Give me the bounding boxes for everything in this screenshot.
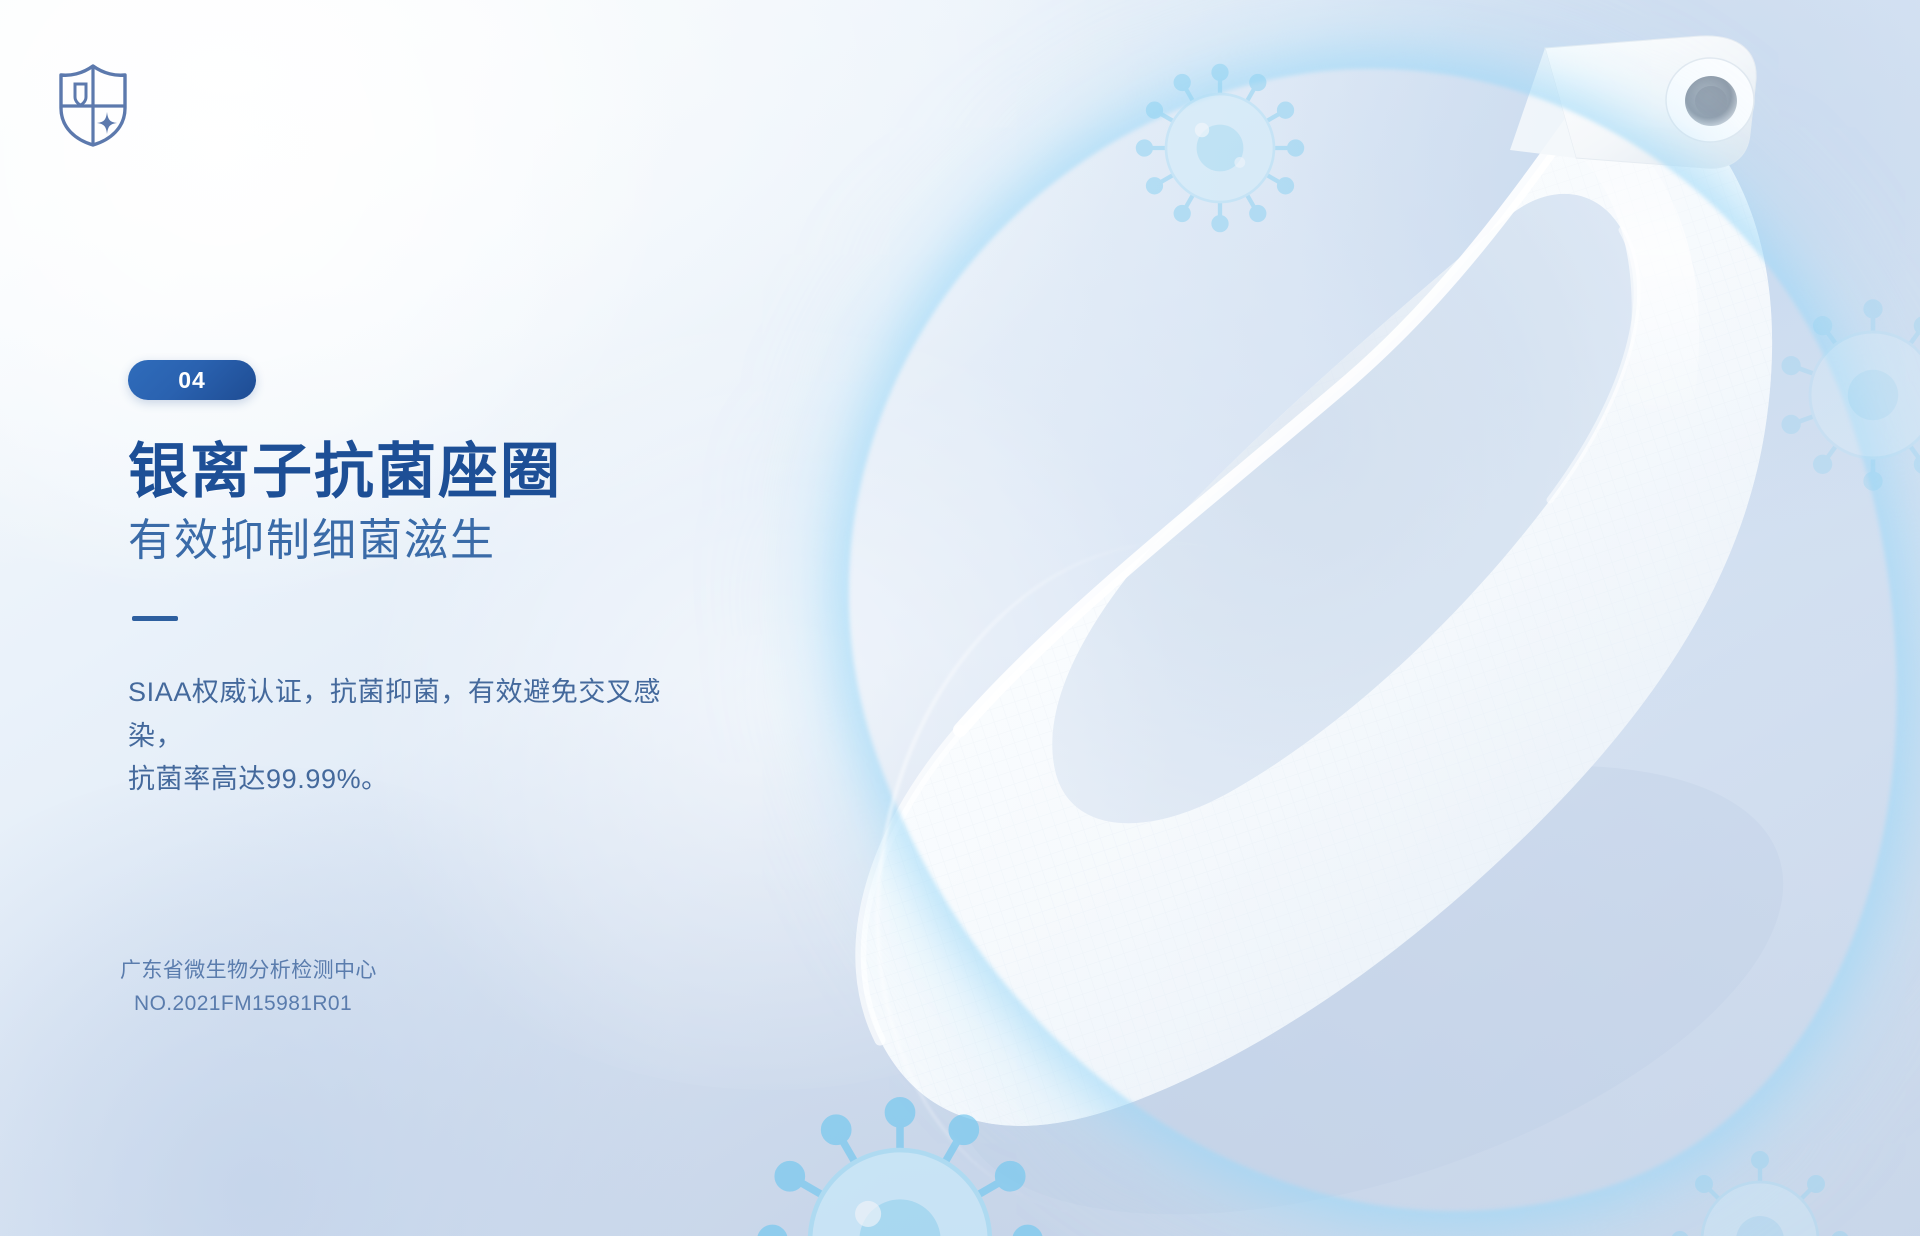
description-line-1: SIAA权威认证，抗菌抑菌，有效避免交叉感染， [128,677,661,751]
certification-report-number: NO.2021FM15981R01 [120,988,377,1021]
text-content-block: 04 银离子抗菌座圈 有效抑制细菌滋生 SIAA权威认证，抗菌抑菌，有效避免交叉… [128,360,748,802]
background-highlight-streak [815,493,1468,1236]
page-subtitle: 有效抑制细菌滋生 [128,515,748,568]
certification-institution: 广东省微生物分析检测中心 [120,955,377,988]
page-title: 银离子抗菌座圈 [128,438,748,505]
seat-edge-glow [709,0,1920,1236]
virus-particle-bottom-right-icon [1660,1140,1860,1236]
section-divider [132,616,178,621]
description-line-2: 抗菌率高达99.99%。 [128,764,389,794]
seat-inner-opening [1052,194,1637,823]
toilet-seat-ring-graphic [810,30,1920,1236]
certification-footnote: 广东省微生物分析检测中心 NO.2021FM15981R01 [120,955,377,1020]
shield-sparkle-icon [56,62,130,148]
step-number-badge: 04 [128,360,256,400]
virus-particle-top-icon [1130,58,1310,238]
seat-ring-body [810,30,1920,1236]
seat-hinge-bracket [1510,36,1756,168]
product-image [810,30,1920,1236]
virus-particle-bottom-left-icon [755,1095,1045,1236]
background-glow-top-right [1260,0,1920,540]
description-text: SIAA权威认证，抗菌抑菌，有效避免交叉感染， 抗菌率高达99.99%。 [128,671,688,802]
product-feature-slide: 04 银离子抗菌座圈 有效抑制细菌滋生 SIAA权威认证，抗菌抑菌，有效避免交叉… [0,0,1920,1236]
seat-mesh-texture [810,30,1920,1236]
virus-particle-right-icon [1768,290,1920,500]
